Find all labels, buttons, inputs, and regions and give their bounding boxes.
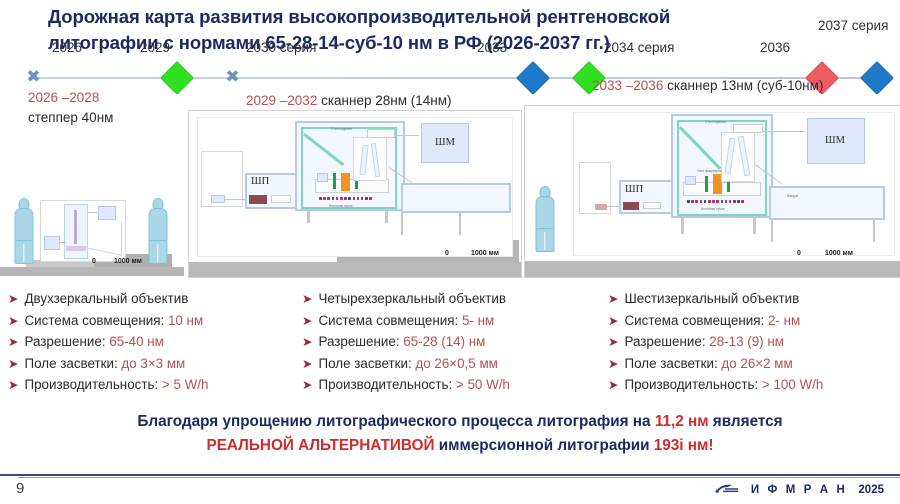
panel2-leg-1: [307, 209, 310, 223]
caption-stepper-years: 2026 –2028: [28, 88, 113, 108]
panel3-label-shm: ШМ: [825, 135, 845, 146]
panel3-floor: [525, 261, 900, 277]
conclusion-line2: РЕАЛЬНОЙ АЛЬТЕРНАТИВОЙ иммерсионной лито…: [60, 434, 860, 458]
spec-column-2033-2036: ➤Шестизеркальный объектив ➤Система совме…: [608, 288, 900, 396]
spec-columns: ➤Двухзеркальный объектив ➤Система совмещ…: [0, 288, 900, 400]
panel3-top-module: [733, 124, 763, 133]
panel3-source: [623, 202, 639, 210]
panel1-side-module: [44, 236, 60, 250]
panel3-leg-1: [681, 218, 684, 234]
panel2-green-left: [333, 173, 336, 189]
caption-scanner-13-text: сканнер 13нм (суб-10нм): [663, 78, 823, 93]
spec-label: Поле засветки:: [624, 356, 717, 371]
page-number: 9: [16, 480, 24, 497]
timeline-label-2026: 2026: [52, 40, 82, 55]
panel2-source: [249, 195, 267, 204]
bullet-arrow-icon: ➤: [8, 310, 18, 332]
spec-value: до 26×0,5 мм: [412, 356, 498, 371]
spec-value: > 5 W/h: [158, 377, 208, 392]
spec-value: до 3×3 мм: [118, 356, 186, 371]
panel3-leg-2: [753, 218, 756, 234]
spec-row: ➤Разрешение: 65-40 нм: [8, 331, 304, 353]
spec-label: Двухзеркальный объектив: [24, 291, 188, 306]
panel2-label-shm: ШМ: [435, 137, 455, 148]
caption-scanner-28-text: сканнер 28нм (14нм): [317, 93, 451, 108]
timeline-label-2030: 2030 серия: [246, 40, 316, 55]
bullet-arrow-icon: ➤: [302, 288, 312, 310]
spec-row: ➤Поле засветки: до 26×2 мм: [608, 353, 900, 375]
ifmran-logo-icon: [714, 483, 740, 496]
bullet-arrow-icon: ➤: [8, 353, 18, 375]
spec-row: ➤Двухзеркальный объектив: [8, 288, 304, 310]
panel1-link-1: [88, 212, 99, 213]
spec-label: Система совмещения:: [624, 313, 764, 328]
spec-value: 2- нм: [764, 313, 800, 328]
panel3-green-left: [705, 176, 708, 192]
diamond-green-icon: [160, 61, 194, 95]
bullet-arrow-icon: ➤: [608, 331, 618, 353]
spec-label: Поле засветки:: [24, 356, 117, 371]
timeline-label-2034: 2034 серия: [604, 40, 674, 55]
bullet-arrow-icon: ➤: [608, 288, 618, 310]
caption-scanner-28: 2029 –2032 сканнер 28нм (14нм): [246, 93, 451, 108]
panel2-scale-value: 1000 мм: [471, 250, 499, 257]
conclusion-line1-highlight: 11,2 нм: [655, 413, 709, 430]
panel3-label-shp: ШП: [625, 184, 643, 195]
footer-year: 2025: [858, 484, 884, 496]
title-line-1: Дорожная карта развития высокопроизводит…: [48, 6, 670, 27]
panel2-floor: [189, 262, 521, 277]
spec-row: ➤Четырехзеркальный объектив: [302, 288, 608, 310]
caption-stepper-text: степпер 40нм: [28, 110, 113, 125]
timeline-label-2033: 2033: [477, 40, 507, 55]
conclusion-line2-highlight: РЕАЛЬНОЙ АЛЬТЕРНАТИВОЙ: [207, 437, 435, 454]
machine-panel-stepper: 0 1000 мм: [0, 150, 184, 276]
panel2-scale-zero: 0: [445, 250, 449, 257]
panel3-scale-value: 1000 мм: [825, 250, 853, 257]
human-leg-split: [157, 244, 158, 262]
bullet-arrow-icon: ➤: [302, 331, 312, 353]
bullet-arrow-icon: ➤: [8, 331, 18, 353]
bullet-arrow-icon: ➤: [302, 310, 312, 332]
footer-rule-top: [0, 474, 900, 476]
spec-value: до 26×2 мм: [718, 356, 793, 371]
timeline-label-2029: 2029: [140, 40, 170, 55]
spec-row: ➤Система совмещения: 5- нм: [302, 310, 608, 332]
spec-label: Шестизеркальный объектив: [624, 291, 799, 306]
panel1-beam: [74, 210, 77, 244]
spec-row: ➤Система совмещения: 10 нм: [8, 310, 304, 332]
panel3-tiny-right: Вакуум: [787, 194, 798, 198]
panel1-floor: [0, 267, 184, 276]
spec-row: ➤Разрешение: 28-13 (9) нм: [608, 331, 900, 353]
timeline-diamond-2033[interactable]: [521, 66, 545, 90]
panel2-right-vessel: [401, 183, 511, 213]
spec-row: ➤Производительность: > 100 W/h: [608, 374, 900, 396]
bullet-arrow-icon: ➤: [608, 310, 618, 332]
footer-org-name: И Ф М Р А Н: [751, 484, 848, 496]
spec-value: > 100 W/h: [758, 377, 823, 392]
panel3-tiny-top: Стол изделия: [705, 120, 726, 124]
caption-scanner-13: 2033 –2036 сканнер 13нм (суб-10нм): [592, 78, 823, 93]
caption-scanner-13-years: 2033 –2036: [592, 78, 663, 93]
spec-label: Производительность:: [24, 377, 158, 392]
spec-row: ➤Система совмещения: 2- нм: [608, 310, 900, 332]
spec-column-2026-2028: ➤Двухзеркальный объектив ➤Система совмещ…: [8, 288, 304, 396]
human-figure: [535, 186, 555, 252]
spec-label: Разрешение:: [624, 334, 705, 349]
spec-label: Разрешение:: [24, 334, 105, 349]
spec-value: > 50 W/h: [452, 377, 510, 392]
panel3-scale-zero: 0: [797, 250, 801, 257]
panel1-stage: [66, 246, 86, 251]
conclusion-text: Благодаря упрощению литографического про…: [60, 410, 860, 457]
footer-rule: [0, 474, 900, 478]
panel1-scale-zero: 0: [92, 258, 96, 265]
human-figure: [14, 198, 34, 264]
bullet-arrow-icon: ➤: [8, 374, 18, 396]
timeline-diamond-2037[interactable]: [865, 66, 889, 90]
panel3-right-vessel: [769, 186, 885, 220]
spec-value: 65-28 (14) нм: [400, 334, 486, 349]
panel2-source-orange: [341, 173, 350, 191]
spec-row: ➤Производительность: > 50 W/h: [302, 374, 608, 396]
timeline-x-marker-2026[interactable]: ✖: [26, 70, 41, 85]
conclusion-line1-b: является: [709, 413, 783, 430]
panel3-inlet: [595, 204, 607, 210]
panel2-inject: [271, 195, 291, 203]
spec-row: ➤Разрешение: 65-28 (14) нм: [302, 331, 608, 353]
bullet-arrow-icon: ➤: [302, 374, 312, 396]
human-body: [149, 208, 168, 244]
spec-value: 5- нм: [458, 313, 494, 328]
timeline-diamond-2029[interactable]: [165, 66, 189, 90]
spec-row: ➤Шестизеркальный объектив: [608, 288, 900, 310]
panel1-scale-value: 1000 мм: [114, 258, 142, 265]
caption-scanner-28-years: 2029 –2032: [246, 93, 317, 108]
timeline-x-marker-2030[interactable]: ✖: [225, 70, 240, 85]
panel3-beamline-in: [607, 206, 619, 207]
spec-value: 65-40 нм: [106, 334, 164, 349]
machine-panel-scanner-13: ШП Стол изделия Узел фокусировки Источни…: [524, 105, 900, 278]
panel2-top-module: [367, 129, 395, 138]
panel3-inject: [643, 202, 661, 209]
panel2-inlet: [211, 195, 225, 203]
slide-root: Дорожная карта развития высокопроизводит…: [0, 0, 900, 504]
panel2-tiny-bottom: Источник пучка: [329, 204, 353, 208]
panel3-tiny-bottom: Источник пучка: [701, 207, 725, 211]
spec-row: ➤Поле засветки: до 3×3 мм: [8, 353, 304, 375]
panel2-leg-3: [401, 213, 403, 235]
spec-label: Производительность:: [624, 377, 758, 392]
spec-value: 10 нм: [164, 313, 203, 328]
panel2-link-top: [395, 135, 419, 136]
spec-row: ➤Поле засветки: до 26×0,5 мм: [302, 353, 608, 375]
timeline-label-2037: 2037 серия: [818, 18, 888, 33]
spec-value: 28-13 (9) нм: [706, 334, 784, 349]
panel2-label-shp: ШП: [251, 176, 269, 187]
spec-label: Производительность:: [318, 377, 452, 392]
spec-label: Система совмещения:: [318, 313, 458, 328]
spec-label: Разрешение:: [318, 334, 399, 349]
footer-rule-bottom: [18, 477, 900, 478]
bullet-arrow-icon: ➤: [608, 353, 618, 375]
panel2-leg-4: [459, 213, 461, 235]
bullet-arrow-icon: ➤: [608, 374, 618, 396]
panel2-small-module: [317, 173, 328, 182]
conclusion-line2-a: иммерсионной литографии: [434, 437, 653, 454]
human-figure-2: [148, 198, 168, 264]
panel1-link-2: [60, 242, 66, 243]
panel2-detector-array: [319, 197, 372, 200]
panel3-link-top: [763, 131, 805, 132]
conclusion-line2-highlight-2: 193i нм!: [654, 437, 714, 454]
human-body: [536, 196, 555, 232]
diamond-blue-icon: [516, 61, 550, 95]
panel3-leg-4: [873, 220, 875, 242]
panel3-small-module: [685, 176, 696, 185]
machine-panel-scanner-28: ШП Стол изделия Источник пучка ШМ: [188, 110, 522, 278]
panel2-tiny-top: Стол изделия: [331, 127, 352, 131]
footer-branding: И Ф М Р А Н 2025: [714, 483, 884, 496]
spec-label: Система совмещения:: [24, 313, 164, 328]
spec-label: Поле засветки:: [318, 356, 411, 371]
human-leg-split: [544, 232, 545, 250]
human-leg-split: [23, 244, 24, 262]
spec-column-2029-2032: ➤Четырехзеркальный объектив ➤Система сов…: [302, 288, 608, 396]
bullet-arrow-icon: ➤: [302, 353, 312, 375]
panel2-beamline-in: [223, 199, 247, 200]
caption-stepper: 2026 –2028 степпер 40нм: [28, 88, 113, 127]
spec-row: ➤Производительность: > 5 W/h: [8, 374, 304, 396]
conclusion-line1-a: Благодаря упрощению литографического про…: [137, 413, 654, 430]
panel3-leg-3: [771, 220, 773, 242]
human-body: [15, 208, 34, 244]
bullet-arrow-icon: ➤: [8, 288, 18, 310]
panel2-leg-2: [385, 209, 388, 223]
timeline-label-2036: 2036: [760, 40, 790, 55]
diamond-blue-icon: [860, 61, 894, 95]
spec-label: Четырехзеркальный объектив: [318, 291, 506, 306]
panel3-detector-array: [687, 200, 744, 203]
